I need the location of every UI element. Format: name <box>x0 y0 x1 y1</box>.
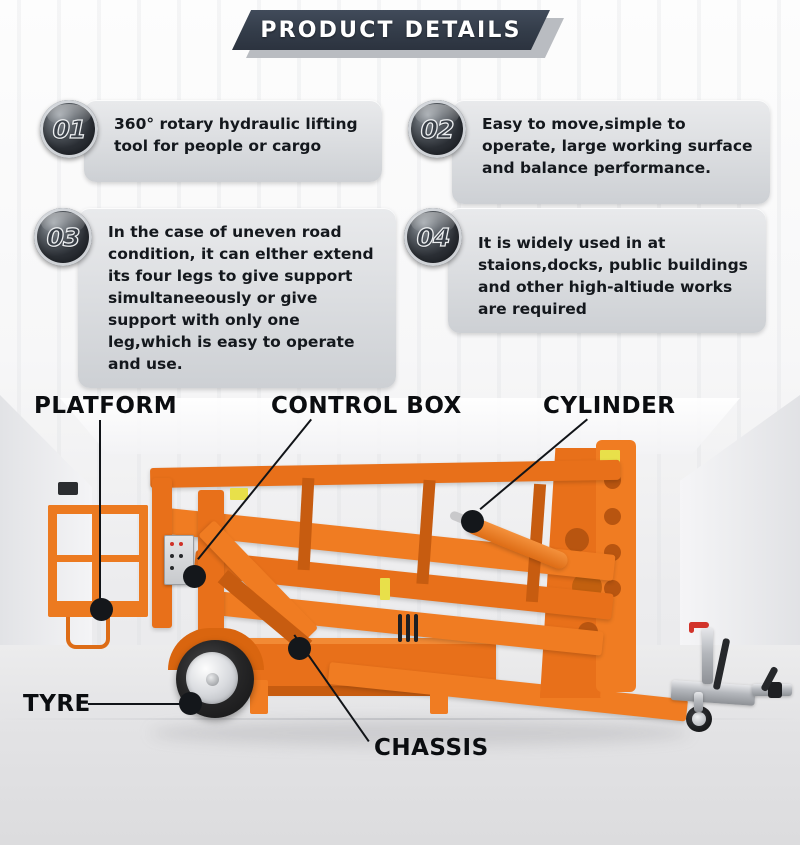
title-banner: PRODUCT DETAILS <box>232 10 572 58</box>
basket-post <box>139 505 148 611</box>
badge-number: 01 <box>53 115 86 144</box>
leader-line-platform <box>99 420 101 610</box>
badge-number: 02 <box>421 115 454 144</box>
jack-post <box>702 628 713 684</box>
feature-number-badge: 04 <box>404 208 462 266</box>
valve-lever <box>406 614 410 642</box>
callout-label-platform: PLATFORM <box>34 393 177 419</box>
tow-hitch-assembly <box>672 622 792 742</box>
leader-dot-platform <box>90 598 113 621</box>
control-button-black[interactable] <box>170 566 174 570</box>
callout-label-tyre: TYRE <box>23 691 91 717</box>
jack-handle-grip[interactable] <box>689 622 694 633</box>
badge-number: 04 <box>417 223 450 252</box>
feature-text: In the case of uneven road condition, it… <box>78 208 396 388</box>
leader-line-tyre <box>88 703 183 705</box>
jockey-strut <box>694 692 703 712</box>
upper-boom <box>150 460 620 488</box>
control-button-black[interactable] <box>179 554 183 558</box>
feature-card: 01 360° rotary hydraulic lifting tool fo… <box>40 100 392 182</box>
warning-sticker <box>380 578 390 600</box>
control-button-black[interactable] <box>170 554 174 558</box>
feature-text: It is widely used in at staions,docks, p… <box>448 208 766 333</box>
feature-text: 360° rotary hydraulic lifting tool for p… <box>84 100 382 182</box>
callout-label-chassis: CHASSIS <box>374 735 489 761</box>
feature-card: 03 In the case of uneven road condition,… <box>34 208 400 388</box>
feature-number-badge: 02 <box>408 100 466 158</box>
basket-post <box>48 505 57 611</box>
boom-strut <box>416 480 435 585</box>
brake-lever[interactable] <box>713 638 731 690</box>
wheel-hub <box>206 673 219 686</box>
valve-lever <box>414 614 418 642</box>
leader-dot-control-box <box>183 565 206 588</box>
banner-title: PRODUCT DETAILS <box>260 18 521 43</box>
product-details-page: PRODUCT DETAILS 01 360° rotary hydraulic… <box>0 0 800 845</box>
jockey-wheel-rim <box>692 712 706 726</box>
outrigger-leg <box>430 682 448 714</box>
feature-card: 04 It is widely used in at staions,docks… <box>404 208 780 333</box>
turret-hole <box>604 508 621 525</box>
feature-card: 02 Easy to move,simple to operate, large… <box>408 100 780 204</box>
basket-step <box>66 617 110 649</box>
feature-number-badge: 03 <box>34 208 92 266</box>
turret-hole-large <box>565 528 589 552</box>
leader-dot-cylinder <box>461 510 484 533</box>
leader-dot-chassis <box>288 637 311 660</box>
callout-label-control-box: CONTROL BOX <box>271 393 462 419</box>
callout-label-cylinder: CYLINDER <box>543 393 676 419</box>
work-light <box>58 482 78 495</box>
leader-dot-tyre <box>179 692 202 715</box>
banner-plate: PRODUCT DETAILS <box>232 10 550 50</box>
boom-strut <box>298 478 315 571</box>
control-button-red[interactable] <box>170 542 174 546</box>
feature-text: Easy to move,simple to operate, large wo… <box>452 100 770 204</box>
feature-number-badge: 01 <box>40 100 98 158</box>
valve-lever <box>398 614 402 642</box>
control-button-red[interactable] <box>179 542 183 546</box>
badge-number: 03 <box>47 223 80 252</box>
